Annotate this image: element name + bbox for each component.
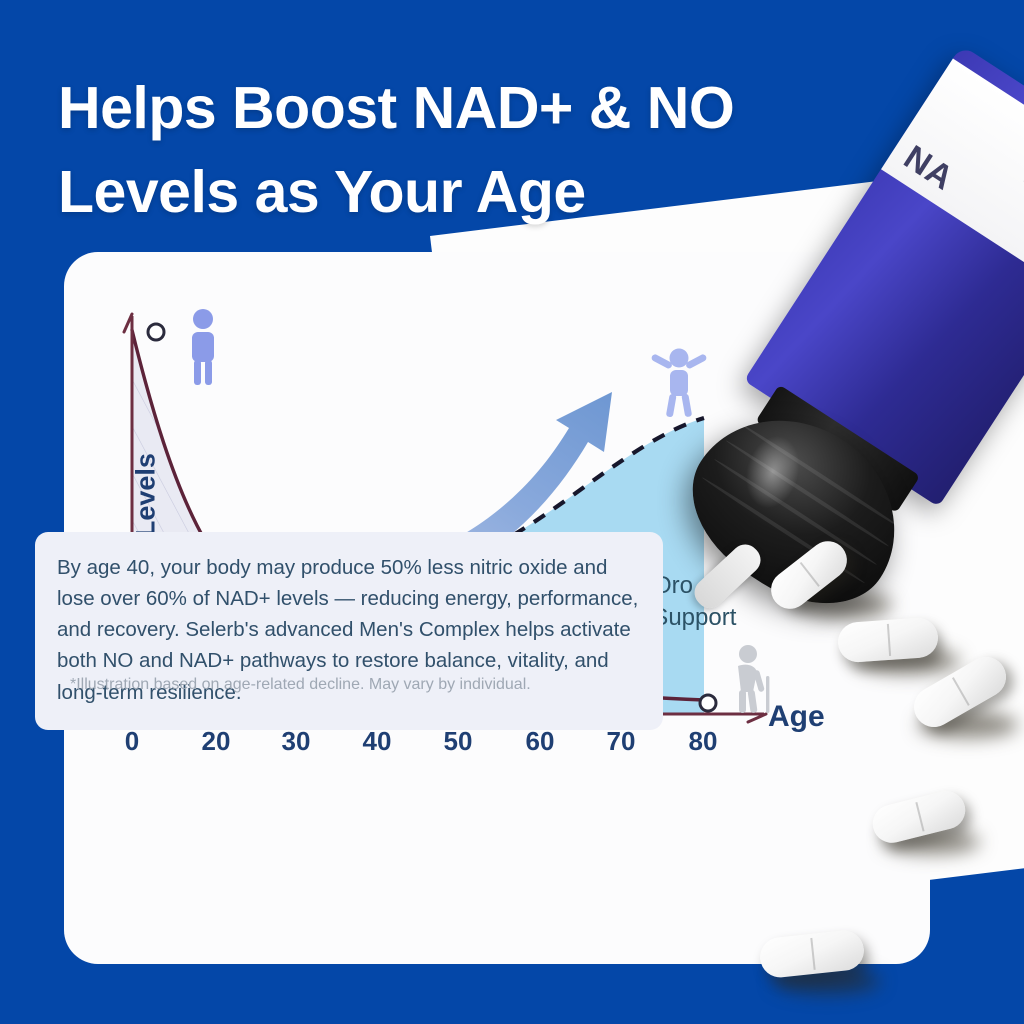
body-copy-panel: By age 40, your body may produce 50% les… — [35, 532, 663, 730]
page-title: Helps Boost NAD+ & NO Levels as Your Age — [58, 66, 878, 235]
pill-capsule — [837, 617, 940, 664]
footnote-text: *Illustration based on age-related decli… — [70, 676, 531, 694]
